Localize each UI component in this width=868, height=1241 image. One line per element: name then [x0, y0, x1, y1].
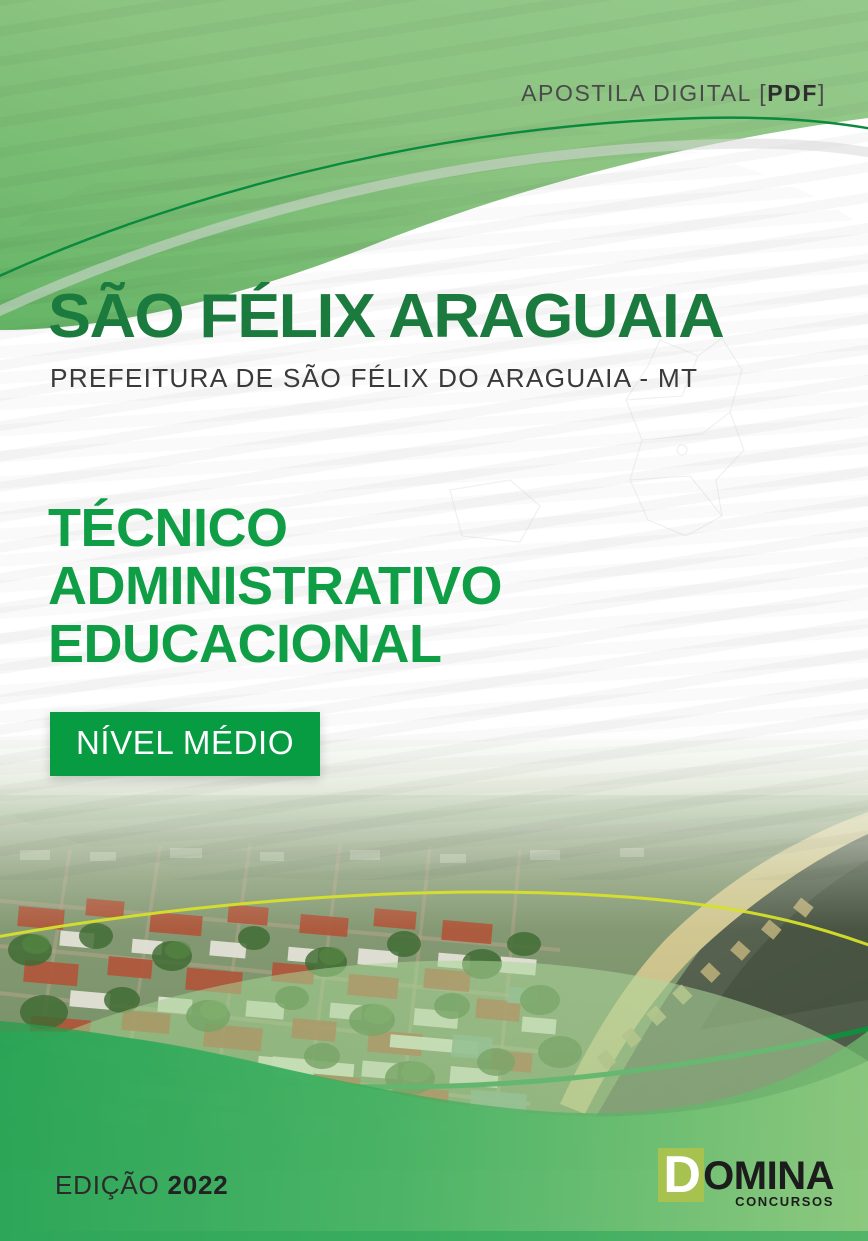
- page-subtitle-prefeitura: PREFEITURA DE SÃO FÉLIX DO ARAGUAIA - MT: [50, 363, 698, 394]
- apostila-label-format: PDF: [767, 80, 818, 106]
- apostila-cover: APOSTILA DIGITAL [PDF] SÃO FÉLIX ARAGUAI…: [0, 0, 868, 1241]
- apostila-digital-label: APOSTILA DIGITAL [PDF]: [521, 80, 826, 107]
- logo-wordmark: OMINA CONCURSOS: [703, 1148, 834, 1209]
- domina-concursos-logo: D OMINA CONCURSOS: [658, 1148, 834, 1209]
- logo-brand-name: OMINA: [703, 1148, 834, 1196]
- role-line-1: TÉCNICO: [48, 500, 502, 558]
- role-title: TÉCNICO ADMINISTRATIVO EDUCACIONAL: [48, 500, 502, 673]
- edition-text: EDIÇÃO: [55, 1170, 159, 1200]
- logo-initial-square: D: [658, 1148, 704, 1202]
- edition-year: 2022: [168, 1170, 229, 1200]
- status-badge-level: NÍVEL MÉDIO: [50, 712, 320, 776]
- edition-label: EDIÇÃO 2022: [55, 1170, 229, 1201]
- apostila-label-suffix: ]: [818, 80, 826, 106]
- role-line-3: EDUCACIONAL: [48, 616, 502, 674]
- apostila-label-prefix: APOSTILA DIGITAL [: [521, 80, 767, 106]
- role-line-2: ADMINISTRATIVO: [48, 558, 502, 616]
- page-title-city: SÃO FÉLIX ARAGUAIA: [48, 286, 723, 348]
